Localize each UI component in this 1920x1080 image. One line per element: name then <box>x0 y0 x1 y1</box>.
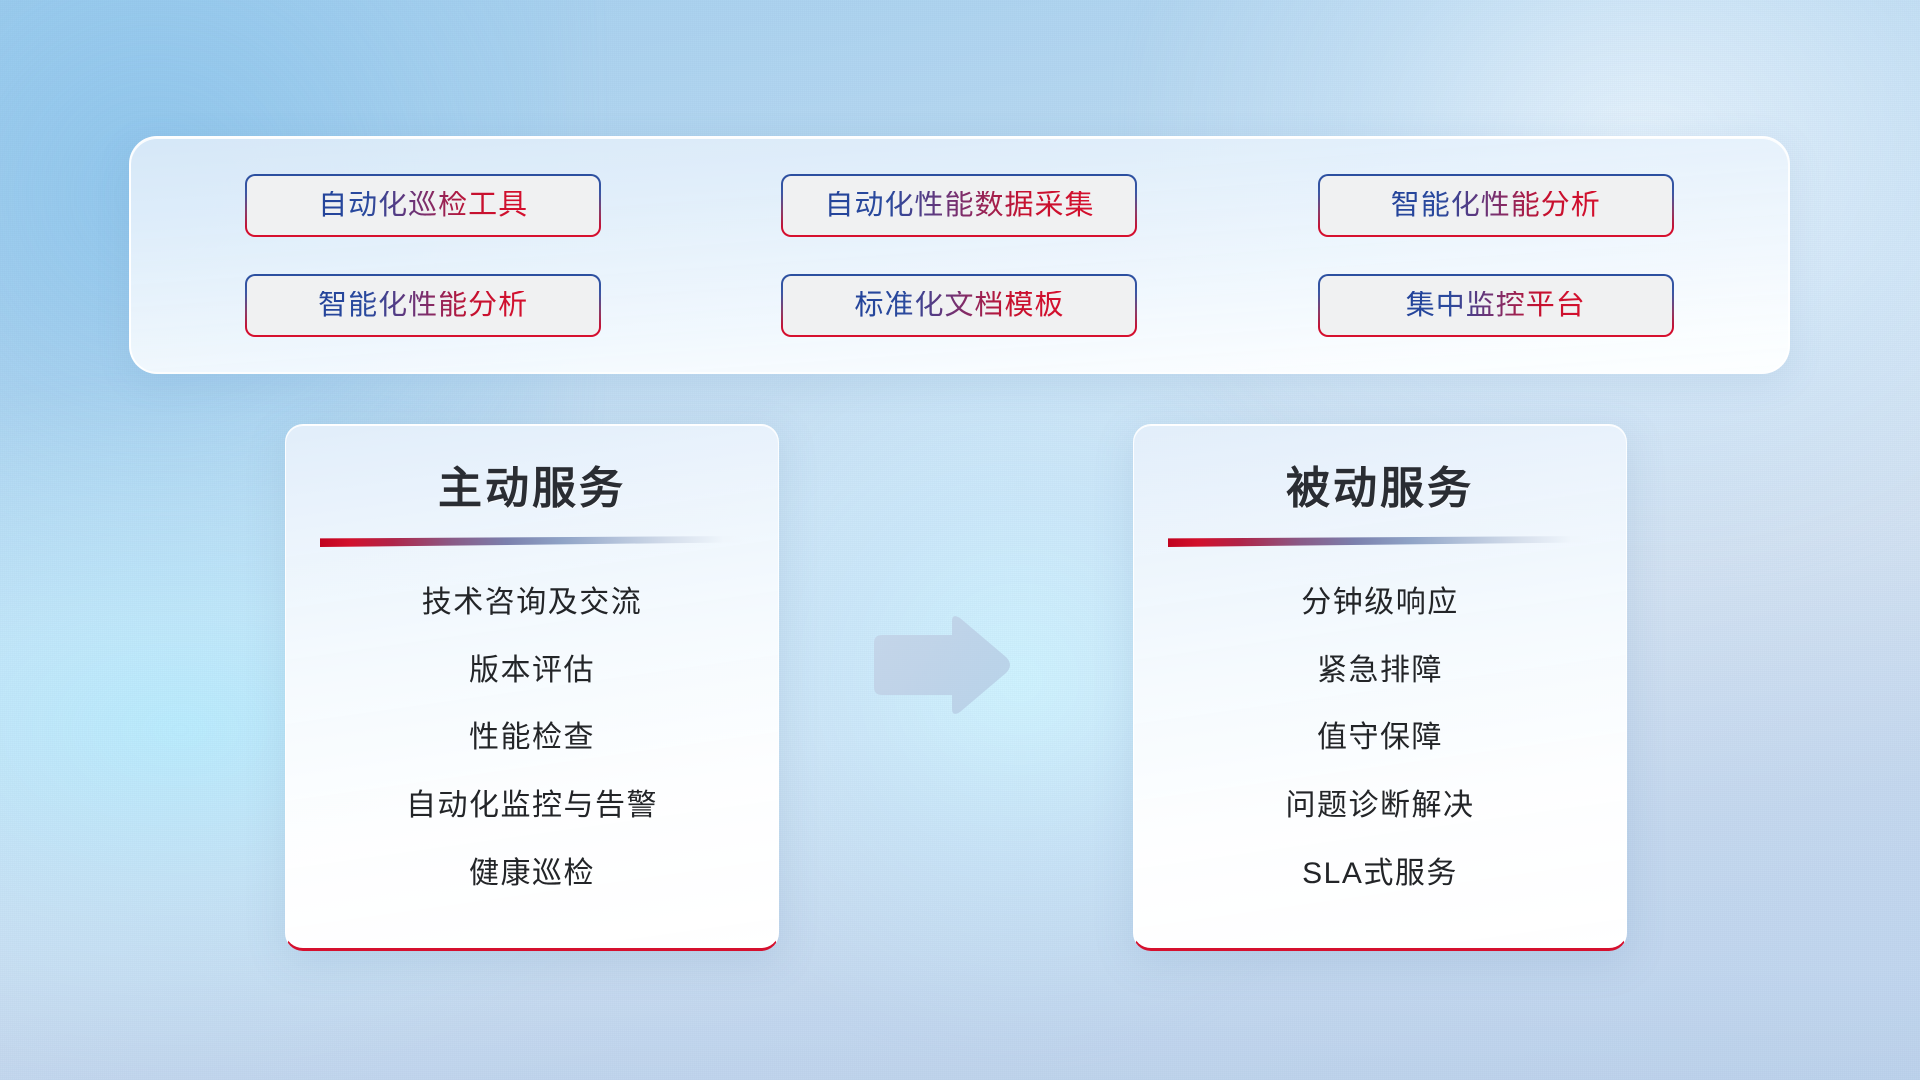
service-card-reactive-divider <box>1168 536 1592 547</box>
arrow-right-block-icon <box>868 613 1013 718</box>
capability-pill-4-surface: 智能化性能分析 <box>247 276 599 335</box>
list-item: 版本评估 <box>469 653 595 689</box>
capability-pill-3-label: 智能化性能分析 <box>1391 191 1601 220</box>
capability-pill-6-label: 集中监控平台 <box>1406 291 1586 320</box>
capability-pill-6-surface: 集中监控平台 <box>1320 276 1672 335</box>
capability-pill-2[interactable]: 自动化性能数据采集 <box>781 174 1137 237</box>
service-card-proactive: 主动服务 技术咨询及交流 版本评估 性能检查 自动化监控与告警 健康巡检 <box>285 424 779 951</box>
list-item: SLA式服务 <box>1302 856 1458 892</box>
service-card-proactive-title: 主动服务 <box>438 461 626 516</box>
capability-pill-2-surface: 自动化性能数据采集 <box>783 176 1135 235</box>
capability-pill-5[interactable]: 标准化文档模板 <box>781 274 1137 337</box>
list-item: 健康巡检 <box>469 856 595 892</box>
list-item: 分钟级响应 <box>1301 585 1459 621</box>
capability-pill-5-surface: 标准化文档模板 <box>783 276 1135 335</box>
service-card-proactive-list: 技术咨询及交流 版本评估 性能检查 自动化监控与告警 健康巡检 <box>322 553 742 924</box>
capability-pill-1[interactable]: 自动化巡检工具 <box>245 174 601 237</box>
capability-pill-4[interactable]: 智能化性能分析 <box>245 274 601 337</box>
list-item: 技术咨询及交流 <box>422 585 643 621</box>
list-item: 性能检查 <box>469 720 595 756</box>
service-card-reactive-title: 被动服务 <box>1286 461 1474 516</box>
capability-pill-4-label: 智能化性能分析 <box>318 291 528 320</box>
capability-pill-5-label: 标准化文档模板 <box>854 291 1064 320</box>
capability-pill-2-label: 自动化性能数据采集 <box>824 191 1094 220</box>
capability-pill-3[interactable]: 智能化性能分析 <box>1318 174 1674 237</box>
service-card-reactive: 被动服务 分钟级响应 紧急排障 值守保障 问题诊断解决 SLA式服务 <box>1133 424 1627 951</box>
list-item: 值守保障 <box>1317 720 1443 756</box>
capability-pill-1-surface: 自动化巡检工具 <box>247 176 599 235</box>
capability-pill-3-surface: 智能化性能分析 <box>1320 176 1672 235</box>
capability-pill-6[interactable]: 集中监控平台 <box>1318 274 1674 337</box>
service-card-reactive-list: 分钟级响应 紧急排障 值守保障 问题诊断解决 SLA式服务 <box>1170 553 1590 924</box>
capability-panel: 自动化巡检工具 自动化性能数据采集 智能化性能分析 智能化性能分析 标准化文档模… <box>129 136 1790 374</box>
list-item: 自动化监控与告警 <box>406 788 658 824</box>
list-item: 问题诊断解决 <box>1286 788 1475 824</box>
capability-pill-1-label: 自动化巡检工具 <box>318 191 528 220</box>
service-card-proactive-divider <box>320 536 744 547</box>
list-item: 紧急排障 <box>1317 653 1443 689</box>
